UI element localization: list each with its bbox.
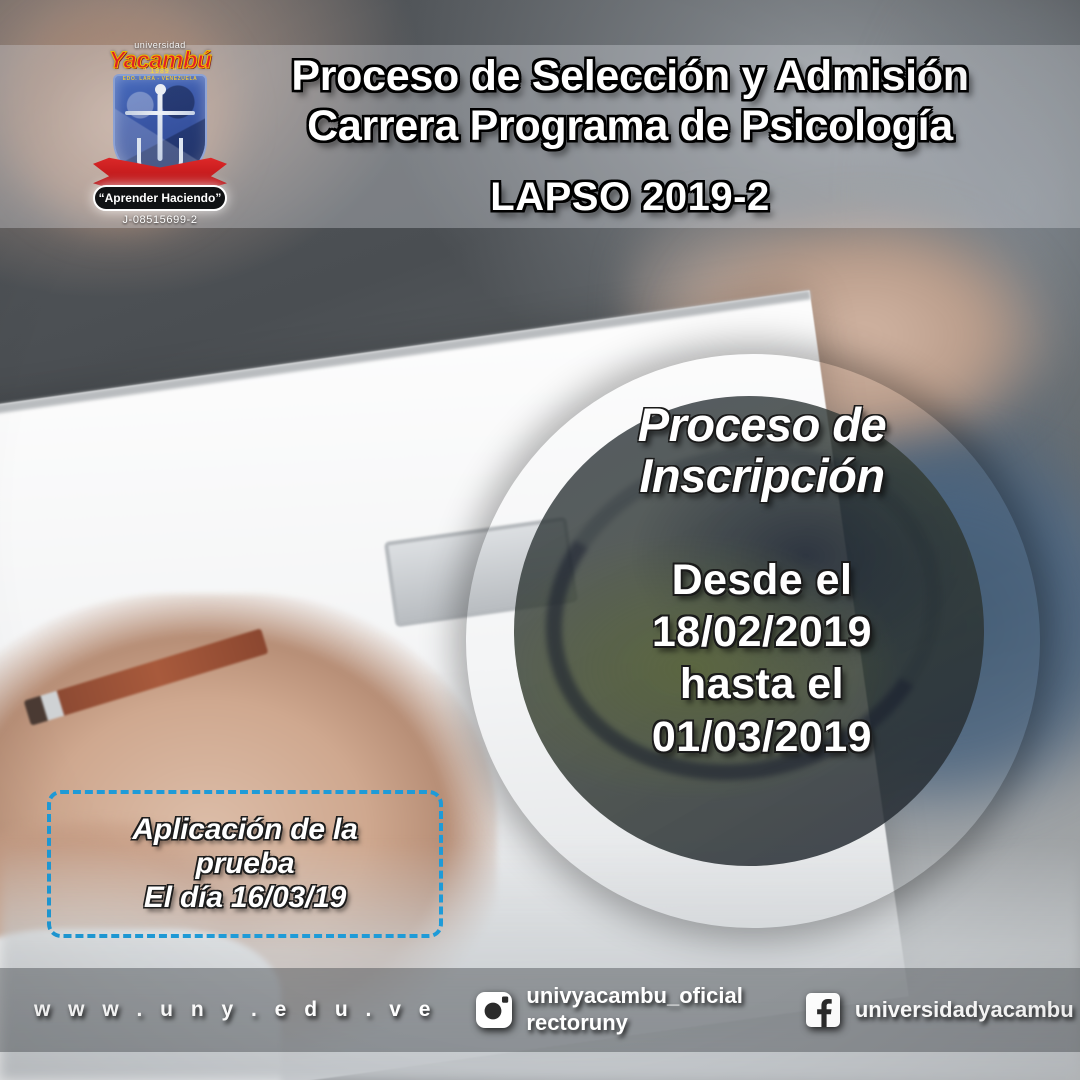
badge-dates: Desde el 18/02/2019 hasta el 01/03/2019 [652,554,872,764]
facebook-link[interactable]: universidadyacambu [803,990,1074,1030]
instagram-link[interactable]: univyacambu_oficial rectoruny [474,983,742,1037]
motto-text: “Aprender Haciendo” [99,191,222,205]
date-line-4: 01/03/2019 [652,711,872,763]
rif-number: J-08515699-2 [85,214,235,226]
facebook-handle: universidadyacambu [855,997,1074,1024]
promotional-poster: universidad Yacambú " 1989 " EDO. LARA -… [0,0,1080,1080]
instagram-icon [474,990,514,1030]
instagram-handles: univyacambu_oficial rectoruny [526,983,742,1037]
test-box-line-2: prueba [196,847,295,881]
test-box-line-3: El día 16/03/19 [144,881,346,915]
title-line-2: Carrera Programa de Psicología [250,102,1010,152]
crest-figure-arms [125,111,195,115]
badge-content: Proceso de Inscripción Desde el 18/02/20… [452,338,1072,958]
page-title: Proceso de Selección y Admisión Carrera … [250,52,1010,152]
badge-title: Proceso de Inscripción [638,400,886,502]
lapso-label: LAPSO 2019-2 [250,175,1010,220]
university-logo: universidad Yacambú " 1989 " EDO. LARA -… [85,38,235,223]
badge-title-line-2: Inscripción [638,451,886,502]
test-date-box: Aplicación de la prueba El día 16/03/19 [47,790,443,938]
date-line-2: 18/02/2019 [652,606,872,658]
facebook-icon [803,990,843,1030]
badge-title-line-1: Proceso de [638,400,886,451]
date-line-3: hasta el [652,658,872,710]
footer-bar: w w w . u n y . e d u . v e univyacambu_… [0,968,1080,1052]
motto-badge: “Aprender Haciendo” [93,185,227,211]
test-box-line-1: Aplicación de la [132,813,357,847]
instagram-handle-1: univyacambu_oficial [526,983,742,1010]
website-url[interactable]: w w w . u n y . e d u . v e [34,998,436,1022]
crest-year: " 1989 " [85,68,235,75]
date-line-1: Desde el [652,554,872,606]
title-line-1: Proceso de Selección y Admisión [250,52,1010,102]
crest-location: EDO. LARA - VENEZUELA [85,76,235,82]
instagram-handle-2: rectoruny [526,1010,742,1037]
